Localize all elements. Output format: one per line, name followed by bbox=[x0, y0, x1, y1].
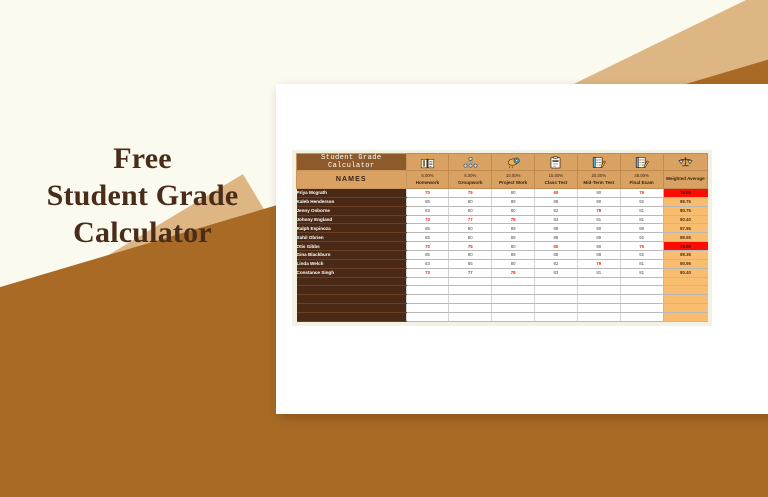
student-name-cell[interactable]: Priya Mcgrath bbox=[297, 189, 407, 198]
weighted-average-cell-empty[interactable] bbox=[663, 313, 707, 322]
score-cell[interactable]: 80 bbox=[449, 251, 492, 260]
brand-title-cell: Student Grade Calculator bbox=[297, 154, 407, 171]
weighted-average-cell[interactable]: 76.00 bbox=[663, 189, 707, 198]
score-cell[interactable]: 70 bbox=[406, 189, 449, 198]
weighted-average-cell[interactable]: 80.95 bbox=[663, 259, 707, 268]
table-body[interactable]: Priya Mcgrath70758060907576.00Kaleb Hend… bbox=[297, 189, 708, 322]
score-cell[interactable]: 85 bbox=[406, 233, 449, 242]
score-cell-empty[interactable] bbox=[620, 304, 663, 313]
weighted-average-cell[interactable]: 87.95 bbox=[663, 224, 707, 233]
table-row-empty[interactable] bbox=[297, 286, 708, 295]
score-cell[interactable]: 85 bbox=[406, 251, 449, 260]
score-cell-empty[interactable] bbox=[406, 295, 449, 304]
table-row[interactable]: Sahil Obrien85808988899289.55 bbox=[297, 233, 708, 242]
score-cell[interactable]: 73 bbox=[406, 215, 449, 224]
col-name: Weighted Average bbox=[664, 176, 707, 182]
score-cell-empty[interactable] bbox=[535, 295, 578, 304]
student-name-cell[interactable]: Gina Blackburn bbox=[297, 251, 407, 260]
score-cell[interactable]: 85 bbox=[449, 259, 492, 268]
table-row-empty[interactable] bbox=[297, 313, 708, 322]
score-cell-empty[interactable] bbox=[577, 277, 620, 286]
score-cell[interactable]: 89 bbox=[492, 197, 535, 206]
score-cell-empty[interactable] bbox=[449, 304, 492, 313]
score-cell[interactable]: 80 bbox=[449, 197, 492, 206]
weighted-average-cell[interactable]: 89.55 bbox=[663, 233, 707, 242]
col-header-class-test: 15.00% Class Test bbox=[535, 171, 578, 189]
book-icon-cell bbox=[406, 154, 449, 171]
student-name-cell[interactable]: Constance Singh bbox=[297, 268, 407, 277]
score-cell[interactable]: 80 bbox=[449, 224, 492, 233]
weighted-average-cell-empty[interactable] bbox=[663, 286, 707, 295]
score-cell[interactable]: 79 bbox=[577, 259, 620, 268]
names-header: NAMES bbox=[297, 171, 407, 189]
score-cell[interactable]: 80 bbox=[492, 259, 535, 268]
score-cell[interactable]: 88 bbox=[577, 251, 620, 260]
weighted-average-cell[interactable]: 80.40 bbox=[663, 215, 707, 224]
student-name-cell-empty[interactable] bbox=[297, 304, 407, 313]
score-cell-empty[interactable] bbox=[535, 313, 578, 322]
score-cell[interactable]: 81 bbox=[577, 215, 620, 224]
poster-canvas: Free Student Grade Calculator Student Gr… bbox=[0, 0, 768, 497]
brain-gear-icon-cell bbox=[492, 154, 535, 171]
score-cell-empty[interactable] bbox=[406, 286, 449, 295]
title-line-2: Student Grade bbox=[0, 177, 285, 214]
col-header-project-work: 10.00% Project Work bbox=[492, 171, 535, 189]
score-cell-empty[interactable] bbox=[535, 277, 578, 286]
score-cell[interactable]: 75 bbox=[620, 189, 663, 198]
score-cell-empty[interactable] bbox=[449, 295, 492, 304]
score-cell[interactable]: 89 bbox=[492, 233, 535, 242]
score-cell[interactable]: 83 bbox=[535, 268, 578, 277]
final-checklist-icon-cell bbox=[620, 154, 663, 171]
weighted-average-cell[interactable]: 89.75 bbox=[663, 197, 707, 206]
score-cell-empty[interactable] bbox=[449, 286, 492, 295]
col-header-groupwork: 5.00% Groupwork bbox=[449, 171, 492, 189]
score-cell[interactable]: 81 bbox=[620, 268, 663, 277]
score-cell-empty[interactable] bbox=[406, 313, 449, 322]
score-cell[interactable]: 92 bbox=[620, 251, 663, 260]
balance-scale-icon-cell bbox=[663, 154, 707, 171]
score-cell[interactable]: 89 bbox=[492, 251, 535, 260]
col-name: Homework bbox=[407, 180, 449, 186]
student-name-cell[interactable]: Sahil Obrien bbox=[297, 233, 407, 242]
poster-title: Free Student Grade Calculator bbox=[0, 140, 285, 251]
student-name-cell[interactable]: Ralph Espinoza bbox=[297, 224, 407, 233]
table-row-empty[interactable] bbox=[297, 295, 708, 304]
clipboard-test-icon: TEST bbox=[549, 156, 562, 169]
student-name-cell[interactable]: Linda Welch bbox=[297, 259, 407, 268]
weighted-average-cell-empty[interactable] bbox=[663, 304, 707, 313]
col-header-homework: 5.00% Homework bbox=[406, 171, 449, 189]
header-icon-row: Student Grade Calculator bbox=[297, 154, 708, 171]
score-cell[interactable]: 88 bbox=[620, 224, 663, 233]
student-name-cell[interactable]: Kaleb Henderson bbox=[297, 197, 407, 206]
weighted-average-cell-empty[interactable] bbox=[663, 277, 707, 286]
score-cell-empty[interactable] bbox=[577, 295, 620, 304]
midterm-checklist-icon-cell bbox=[577, 154, 620, 171]
table-header: Student Grade Calculator bbox=[297, 154, 708, 189]
score-cell[interactable]: 81 bbox=[620, 259, 663, 268]
score-cell-empty[interactable] bbox=[620, 295, 663, 304]
score-cell[interactable]: 80 bbox=[492, 242, 535, 251]
col-header-final-exam: 45.00% Final Exam bbox=[620, 171, 663, 189]
table-row[interactable]: Priya Mcgrath70758060907576.00 bbox=[297, 189, 708, 198]
score-cell-empty[interactable] bbox=[449, 277, 492, 286]
score-cell[interactable]: 78 bbox=[492, 268, 535, 277]
score-cell-empty[interactable] bbox=[577, 304, 620, 313]
score-cell-empty[interactable] bbox=[449, 313, 492, 322]
score-cell[interactable]: 78 bbox=[492, 215, 535, 224]
score-cell[interactable]: 81 bbox=[620, 215, 663, 224]
score-cell[interactable]: 81 bbox=[620, 206, 663, 215]
brain-gear-icon bbox=[506, 156, 521, 169]
col-name: Project Work bbox=[492, 180, 534, 186]
col-name: Final Exam bbox=[621, 180, 663, 186]
student-name-cell[interactable]: Jenny Osborne bbox=[297, 206, 407, 215]
score-cell-empty[interactable] bbox=[406, 304, 449, 313]
title-line-1: Free bbox=[0, 140, 285, 177]
clipboard-test-icon-cell: TEST bbox=[535, 154, 578, 171]
col-header-mid-term-test: 20.00% Mid-Term Test bbox=[577, 171, 620, 189]
table-row[interactable]: Johnny England73777883818180.40 bbox=[297, 215, 708, 224]
score-cell[interactable]: 92 bbox=[620, 197, 663, 206]
score-cell[interactable]: 82 bbox=[535, 206, 578, 215]
score-cell[interactable]: 82 bbox=[535, 259, 578, 268]
score-cell[interactable]: 77 bbox=[449, 268, 492, 277]
score-cell[interactable]: 80 bbox=[492, 206, 535, 215]
col-name: Groupwork bbox=[449, 180, 491, 186]
table-row[interactable]: Ralph Espinoza85808988908887.95 bbox=[297, 224, 708, 233]
score-cell-empty[interactable] bbox=[492, 304, 535, 313]
score-cell[interactable]: 90 bbox=[577, 242, 620, 251]
table-row[interactable]: Otis Gibbs70758060907576.00 bbox=[297, 242, 708, 251]
weighted-average-cell[interactable]: 80.75 bbox=[663, 206, 707, 215]
score-cell[interactable]: 83 bbox=[535, 215, 578, 224]
score-cell[interactable]: 75 bbox=[449, 242, 492, 251]
score-cell[interactable]: 80 bbox=[492, 189, 535, 198]
score-cell[interactable]: 60 bbox=[535, 189, 578, 198]
score-cell[interactable]: 70 bbox=[406, 242, 449, 251]
score-cell-empty[interactable] bbox=[406, 277, 449, 286]
score-cell-empty[interactable] bbox=[620, 286, 663, 295]
weighted-average-cell-empty[interactable] bbox=[663, 295, 707, 304]
checklist-pencil-icon bbox=[635, 156, 649, 169]
score-cell-empty[interactable] bbox=[535, 304, 578, 313]
network-icon bbox=[463, 156, 478, 169]
header-meta-row: NAMES 5.00% Homework 5.00% Groupwork 10.… bbox=[297, 171, 708, 189]
score-cell-empty[interactable] bbox=[492, 277, 535, 286]
col-name: Mid-Term Test bbox=[578, 180, 620, 186]
score-cell[interactable]: 85 bbox=[406, 224, 449, 233]
student-name-cell-empty[interactable] bbox=[297, 277, 407, 286]
score-cell[interactable]: 89 bbox=[577, 233, 620, 242]
table-row[interactable]: Kaleb Henderson85808988909289.75 bbox=[297, 197, 708, 206]
score-cell[interactable]: 92 bbox=[620, 233, 663, 242]
weighted-average-cell[interactable]: 89.35 bbox=[663, 251, 707, 260]
score-cell[interactable]: 88 bbox=[535, 197, 578, 206]
student-name-cell[interactable]: Otis Gibbs bbox=[297, 242, 407, 251]
table-row[interactable]: Gina Blackburn85808988889289.35 bbox=[297, 251, 708, 260]
student-name-cell-empty[interactable] bbox=[297, 313, 407, 322]
score-cell-empty[interactable] bbox=[535, 286, 578, 295]
grade-table[interactable]: Student Grade Calculator bbox=[296, 153, 708, 322]
book-icon bbox=[420, 156, 435, 169]
score-cell-empty[interactable] bbox=[620, 277, 663, 286]
table-row[interactable]: Linda Welch83858082798180.95 bbox=[297, 259, 708, 268]
network-icon-cell bbox=[449, 154, 492, 171]
score-cell[interactable]: 90 bbox=[577, 224, 620, 233]
score-cell[interactable]: 90 bbox=[577, 197, 620, 206]
score-cell[interactable]: 83 bbox=[406, 259, 449, 268]
table-row[interactable]: Constance Singh73777883818180.40 bbox=[297, 268, 708, 277]
score-cell-empty[interactable] bbox=[577, 313, 620, 322]
score-cell[interactable]: 75 bbox=[620, 242, 663, 251]
student-name-cell-empty[interactable] bbox=[297, 286, 407, 295]
weighted-average-cell[interactable]: 76.00 bbox=[663, 242, 707, 251]
checklist-pencil-icon bbox=[592, 156, 606, 169]
score-cell[interactable]: 89 bbox=[492, 224, 535, 233]
score-cell[interactable]: 80 bbox=[449, 206, 492, 215]
spreadsheet[interactable]: Student Grade Calculator bbox=[292, 150, 712, 326]
score-cell-empty[interactable] bbox=[492, 313, 535, 322]
score-cell[interactable]: 88 bbox=[535, 251, 578, 260]
table-row[interactable]: Jenny Osborne83808082788180.75 bbox=[297, 206, 708, 215]
student-name-cell-empty[interactable] bbox=[297, 295, 407, 304]
score-cell[interactable]: 81 bbox=[577, 268, 620, 277]
score-cell[interactable]: 77 bbox=[449, 215, 492, 224]
score-cell[interactable]: 80 bbox=[449, 233, 492, 242]
student-name-cell[interactable]: Johnny England bbox=[297, 215, 407, 224]
col-name: Class Test bbox=[535, 180, 577, 186]
score-cell[interactable]: 85 bbox=[406, 197, 449, 206]
score-cell[interactable]: 90 bbox=[577, 189, 620, 198]
balance-scale-icon bbox=[678, 156, 693, 168]
score-cell[interactable]: 75 bbox=[449, 189, 492, 198]
table-row-empty[interactable] bbox=[297, 304, 708, 313]
weighted-average-cell[interactable]: 80.40 bbox=[663, 268, 707, 277]
score-cell[interactable]: 78 bbox=[577, 206, 620, 215]
score-cell[interactable]: 60 bbox=[535, 242, 578, 251]
score-cell-empty[interactable] bbox=[492, 295, 535, 304]
col-header-weighted-average: Weighted Average bbox=[663, 171, 707, 189]
score-cell[interactable]: 83 bbox=[406, 206, 449, 215]
score-cell[interactable]: 73 bbox=[406, 268, 449, 277]
score-cell-empty[interactable] bbox=[620, 313, 663, 322]
score-cell-empty[interactable] bbox=[577, 286, 620, 295]
score-cell[interactable]: 88 bbox=[535, 224, 578, 233]
table-row-empty[interactable] bbox=[297, 277, 708, 286]
title-line-3: Calculator bbox=[0, 214, 285, 251]
score-cell-empty[interactable] bbox=[492, 286, 535, 295]
score-cell[interactable]: 88 bbox=[535, 233, 578, 242]
